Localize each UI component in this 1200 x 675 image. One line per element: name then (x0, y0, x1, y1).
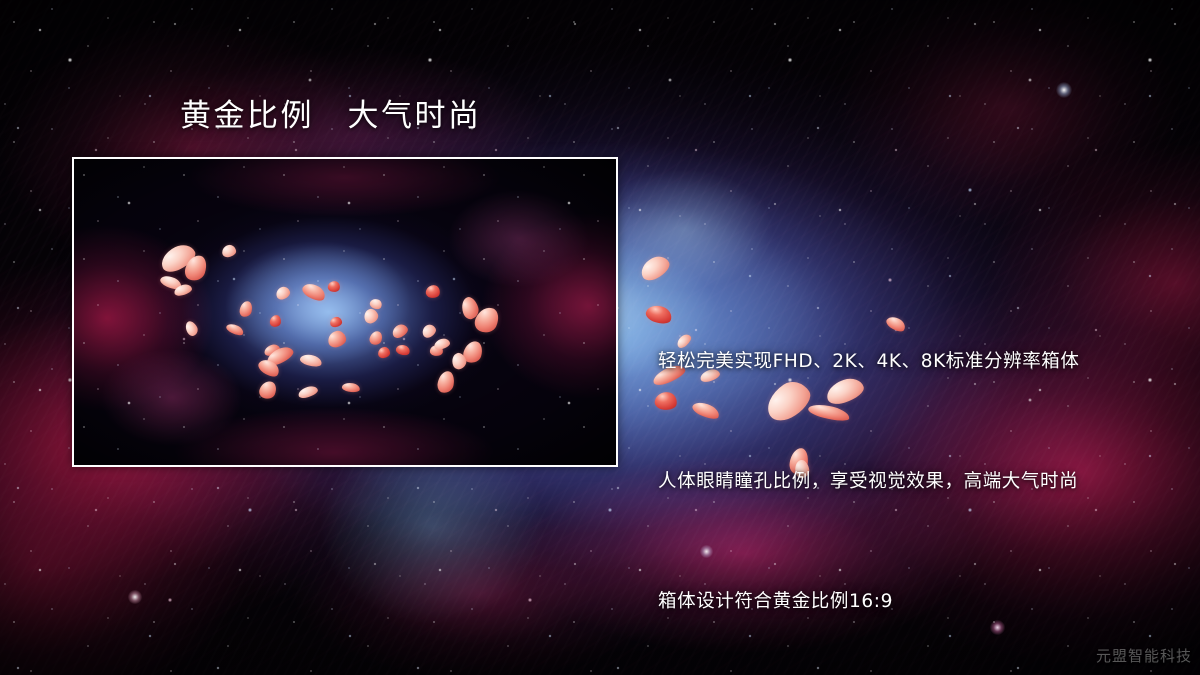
body-text-line: 轻松完美实现FHD、2K、4K、8K标准分辨率箱体 (658, 342, 1080, 382)
bright-star-glow (128, 590, 142, 604)
framed-image-inner (74, 159, 616, 465)
bright-star-glow (1056, 82, 1072, 98)
body-text-line: 箱体设计符合黄金比例16:9 (658, 582, 1080, 622)
body-text-line: 人体眼睛瞳孔比例，享受视觉效果，高端大气时尚 (658, 462, 1080, 502)
body-text-block: 轻松完美实现FHD、2K、4K、8K标准分辨率箱体 人体眼睛瞳孔比例，享受视觉效… (658, 262, 1080, 675)
company-watermark: 元盟智能科技 (1096, 645, 1192, 666)
page-title: 黄金比例 大气时尚 (180, 99, 482, 134)
framed-starfield-large (74, 159, 616, 465)
framed-product-image (72, 157, 618, 467)
presentation-slide: 黄金比例 大气时尚 轻松完美实现FHD、2K、4K、8K标准分辨率箱体 人体眼睛… (0, 0, 1200, 675)
